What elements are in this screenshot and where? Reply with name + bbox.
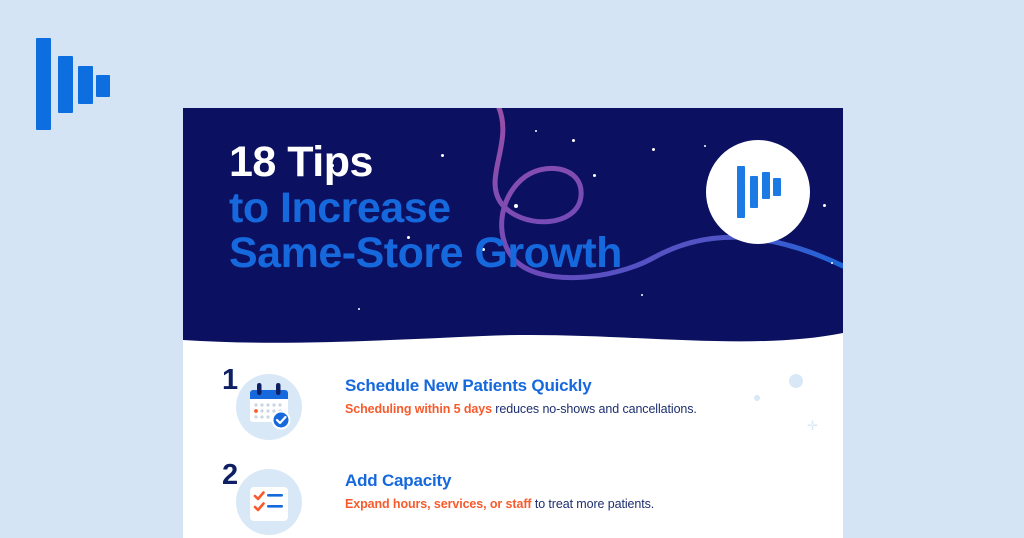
logo-bar-4 bbox=[96, 75, 110, 97]
tip-body: Expand hours, services, or staff to trea… bbox=[345, 497, 825, 511]
badge-logo-bar-2 bbox=[750, 176, 758, 208]
tip-body-rest: reduces no-shows and cancellations. bbox=[492, 402, 697, 416]
star-dot bbox=[535, 130, 537, 132]
hero-logo-badge bbox=[706, 140, 810, 244]
star-dot bbox=[652, 148, 655, 151]
tips-list: ✛ 1 bbox=[183, 348, 843, 538]
decorative-sparkle-icon: ✛ bbox=[807, 419, 818, 432]
tip-content: Schedule New Patients Quickly Scheduling… bbox=[345, 376, 825, 416]
tip-heading: Schedule New Patients Quickly bbox=[345, 376, 825, 396]
tip-body-highlight: Expand hours, services, or staff bbox=[345, 497, 531, 511]
badge-logo-bar-3 bbox=[762, 172, 770, 199]
hero-title-line-3: Same-Store Growth bbox=[229, 231, 622, 277]
tip-body-highlight: Scheduling within 5 days bbox=[345, 402, 492, 416]
star-dot bbox=[831, 262, 833, 264]
hero-title-line-2: to Increase bbox=[229, 186, 622, 232]
logo-bar-1 bbox=[36, 38, 51, 130]
logo-bar-3 bbox=[78, 66, 93, 104]
hero-title: 18 Tips to Increase Same-Store Growth bbox=[229, 140, 622, 277]
calendar-check-icon bbox=[236, 374, 302, 440]
badge-logo-bar-4 bbox=[773, 178, 781, 196]
hero-title-line-1: 18 Tips bbox=[229, 140, 622, 186]
tip-body-rest: to treat more patients. bbox=[531, 497, 654, 511]
tip-body: Scheduling within 5 days reduces no-show… bbox=[345, 402, 825, 416]
badge-logo-bar-1 bbox=[737, 166, 745, 218]
star-dot bbox=[704, 145, 706, 147]
hero-header: 18 Tips to Increase Same-Store Growth bbox=[183, 108, 843, 348]
tip-content: Add Capacity Expand hours, services, or … bbox=[345, 471, 825, 511]
star-dot bbox=[823, 204, 826, 207]
brand-logo bbox=[36, 36, 110, 130]
infographic-card: 18 Tips to Increase Same-Store Growth ✛ … bbox=[183, 108, 843, 538]
star-dot bbox=[641, 294, 643, 296]
checklist-icon bbox=[236, 469, 302, 535]
logo-bar-2 bbox=[58, 56, 73, 113]
star-dot bbox=[358, 308, 360, 310]
tip-heading: Add Capacity bbox=[345, 471, 825, 491]
